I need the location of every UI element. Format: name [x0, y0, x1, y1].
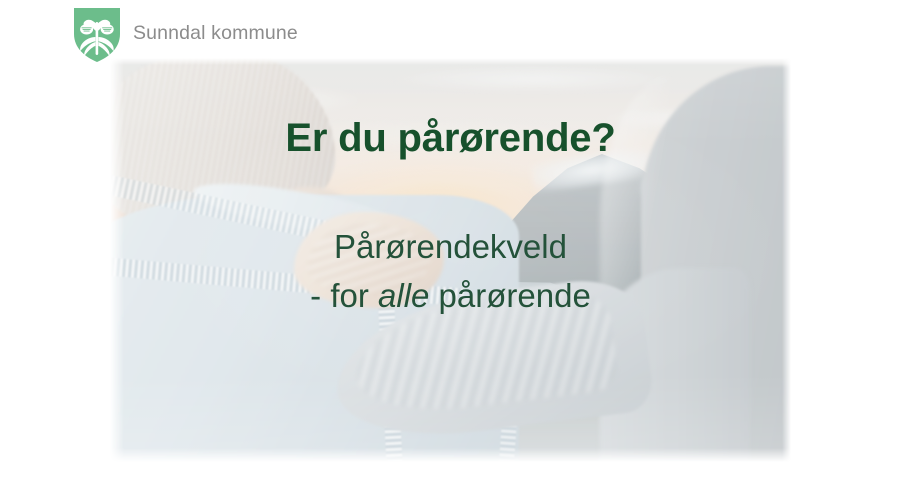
photo-canvas	[110, 58, 791, 462]
poster-photo	[110, 58, 791, 462]
photo-hand-fingers	[307, 224, 430, 297]
brand-name-label: Sunndal kommune	[133, 24, 298, 46]
brand-header: Sunndal kommune	[74, 8, 298, 62]
poster-slide: Sunndal kommune	[0, 0, 901, 494]
sunndal-shield-logo-icon	[74, 8, 120, 62]
